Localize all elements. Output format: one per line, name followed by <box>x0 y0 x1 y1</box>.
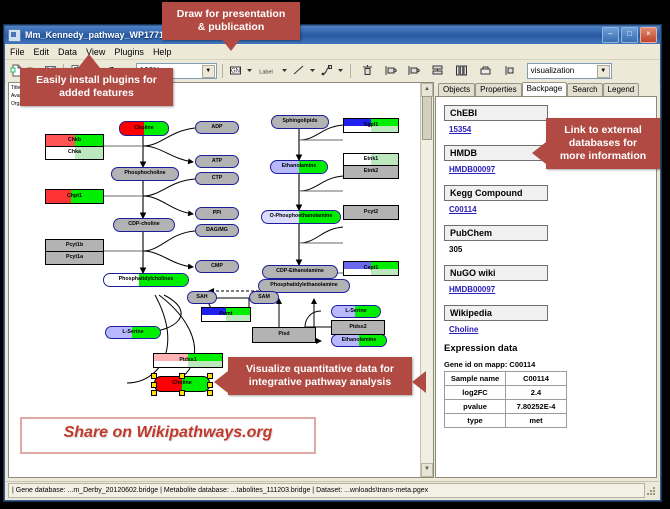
node-label: Pisd <box>278 332 289 337</box>
callout-link-arrow <box>532 142 546 164</box>
db-link-wikipedia[interactable]: Choline <box>449 325 656 334</box>
gene-node-pisd[interactable]: Pisd <box>252 327 316 343</box>
selection-handle-sw[interactable] <box>151 390 157 396</box>
db-header-wikipedia: Wikipedia <box>444 305 548 321</box>
metabolite-node-phosphocholine[interactable]: Phosphocholine <box>111 167 179 181</box>
gene-node-ptdss2[interactable]: Ptdss2 <box>331 320 385 335</box>
selection-handle-ne[interactable] <box>207 373 213 379</box>
callout-visualize: Visualize quantitative data for integrat… <box>228 357 412 395</box>
app-icon <box>8 29 21 42</box>
table-cell-value: 7.80252E-4 <box>506 400 567 414</box>
datanode-icon[interactable]: GN <box>228 63 243 78</box>
minimize-button[interactable]: – <box>602 27 619 43</box>
distribute-icon[interactable] <box>454 63 469 78</box>
selection-handle-w[interactable] <box>151 382 157 388</box>
metabolite-node-o-phosphoethanolamine[interactable]: O-Phosphoethanolamine <box>261 210 341 224</box>
selection-handle-nw[interactable] <box>151 373 157 379</box>
table-row: type met <box>445 414 567 428</box>
close-button[interactable]: × <box>640 27 657 43</box>
scroll-thumb[interactable] <box>422 96 432 140</box>
tab-backpage[interactable]: Backpage <box>522 82 568 96</box>
callout-draw-arrow <box>220 37 242 51</box>
gene-id-on-mapp: Gene id on mapp: C00114 <box>444 360 656 369</box>
visualization-value: visualization <box>531 66 575 75</box>
table-cell-key: log2FC <box>445 386 506 400</box>
metabolite-node-ctp[interactable]: CTP <box>195 172 239 185</box>
gene-node-etnk2[interactable]: Etnk2 <box>343 165 399 179</box>
callout-plugins-line1: Easily install plugins for <box>29 74 164 87</box>
callout-link: Link to external databases for more info… <box>546 118 660 169</box>
metabolite-node-sphingolipids[interactable]: Sphingolipids <box>271 115 329 129</box>
table-cell-key: Sample name <box>445 372 506 386</box>
node-label: ATP <box>212 159 222 164</box>
metabolite-node-cdp-ethanolamine[interactable]: CDP-Ethanolamine <box>262 265 338 279</box>
callout-visualize-line1: Visualize quantitative data for <box>237 363 403 376</box>
gene-node-chka[interactable]: Chka <box>45 146 104 160</box>
callout-visualize-arrow-right <box>412 371 426 393</box>
callout-draw-line2: & publication <box>171 21 291 34</box>
node-label: Chpt1 <box>67 194 82 199</box>
gene-node-chpt1[interactable]: Chpt1 <box>45 189 104 204</box>
metabolite-node-ethanolamine-bottom[interactable]: Ethanolamine <box>331 334 387 347</box>
db-link-kegg-compound[interactable]: C00114 <box>449 205 656 214</box>
table-row: pvalue 7.80252E-4 <box>445 400 567 414</box>
callout-link-line1: Link to external <box>555 124 651 137</box>
gene-node-cept1[interactable]: Cept1 <box>343 261 399 276</box>
node-label: Pcyt2 <box>364 210 378 215</box>
node-label: Phosphocholine <box>124 171 165 176</box>
tab-search[interactable]: Search <box>567 83 602 96</box>
label-dropdown-icon[interactable] <box>280 63 289 78</box>
node-label: SAM <box>258 295 270 300</box>
tab-objects[interactable]: Objects <box>438 83 475 96</box>
metabolite-node-phosphatidylcholines[interactable]: Phosphatidylcholines <box>103 273 189 287</box>
node-label: Etnk2 <box>364 169 378 174</box>
table-row: log2FC 2.4 <box>445 386 567 400</box>
callout-link-line2: databases for <box>555 137 651 150</box>
maximize-button[interactable]: □ <box>621 27 638 43</box>
table-row: Sample name C00114 <box>445 372 567 386</box>
window-controls: – □ × <box>602 27 657 43</box>
metabolite-node-choline[interactable]: Choline <box>119 121 169 136</box>
metabolite-node-l-serine-right[interactable]: L-Serine <box>331 305 381 318</box>
gene-node-pemt[interactable]: Pemt <box>201 307 251 322</box>
menu-item-data[interactable]: Data <box>58 47 77 57</box>
node-label: CDP-Ethanolamine <box>276 269 324 274</box>
callout-visualize-line2: integrative pathway analysis <box>237 376 403 389</box>
metabolite-node-adp[interactable]: ADP <box>195 121 239 134</box>
tab-properties[interactable]: Properties <box>475 83 521 96</box>
node-label: Pemt <box>220 312 233 317</box>
title-bar: Mm_Kennedy_pathway_WP1771_45176.gpml – □… <box>5 26 660 44</box>
selection-handle-s[interactable] <box>179 390 185 396</box>
toolbar-separator-2 <box>222 64 223 78</box>
callout-share: Share on Wikipathways.org <box>20 417 316 454</box>
node-label: ADP <box>211 125 222 130</box>
resize-grip-icon[interactable] <box>645 485 657 497</box>
metabolite-node-cdp-choline[interactable]: CDP-choline <box>113 218 175 232</box>
table-cell-key: type <box>445 414 506 428</box>
node-label: Choline <box>134 126 153 131</box>
align-left-icon[interactable] <box>383 63 398 78</box>
menu-item-file[interactable]: File <box>10 47 25 57</box>
datanode-dropdown-icon[interactable] <box>245 63 254 78</box>
align-top-icon[interactable] <box>360 63 375 78</box>
db-header-nugo-wiki: NuGO wiki <box>444 265 548 281</box>
node-label: CDP-choline <box>128 222 160 227</box>
selection-handle-n[interactable] <box>179 373 185 379</box>
metabolite-node-ppi[interactable]: PPi <box>195 207 239 220</box>
node-label: O-Phosphoethanolamine <box>270 214 333 219</box>
node-label: DAG/MG <box>206 228 228 233</box>
node-label: L-Serine <box>345 309 366 314</box>
db-header-pubchem: PubChem <box>444 225 548 241</box>
scroll-up-button[interactable]: ▲ <box>421 83 433 97</box>
node-label: L-Serine <box>122 330 143 335</box>
table-cell-value: met <box>506 414 567 428</box>
label-icon[interactable]: Label <box>256 63 278 78</box>
interaction-icon[interactable] <box>319 63 334 78</box>
toolbar-separator-3 <box>350 64 351 78</box>
node-label: SAH <box>196 295 207 300</box>
group-icon[interactable] <box>478 63 493 78</box>
tab-legend[interactable]: Legend <box>603 83 640 96</box>
align-right-icon[interactable] <box>406 63 421 78</box>
node-label: Ethanolamine <box>342 338 377 343</box>
db-header-chebi: ChEBI <box>444 105 548 121</box>
scroll-down-button[interactable]: ▼ <box>421 463 433 477</box>
node-label: Choline <box>172 381 191 386</box>
menu-item-help[interactable]: Help <box>153 47 172 57</box>
visualization-combobox[interactable]: visualization ▼ <box>527 63 612 79</box>
node-label: Ptdss2 <box>349 325 366 330</box>
node-label: Phosphatidylcholines <box>119 277 174 282</box>
callout-draw-line1: Draw for presentation <box>171 8 291 21</box>
side-panel-tabs: Objects Properties Backpage Search Legen… <box>435 82 657 96</box>
metabolite-node-cmp[interactable]: CMP <box>195 260 239 273</box>
table-cell-value: 2.4 <box>506 386 567 400</box>
chevron-down-icon[interactable]: ▼ <box>202 65 215 78</box>
status-text: | Gene database: ...m_Derby_20120602.bri… <box>8 483 645 498</box>
node-label: Sphingolipids <box>282 119 317 124</box>
node-label: Ptdss1 <box>179 358 196 363</box>
menu-item-plugins[interactable]: Plugins <box>114 47 144 57</box>
node-label: Ethanolamine <box>282 164 317 169</box>
node-label: Phosphatidylethanolamine <box>270 283 337 288</box>
expression-data-heading: Expression data <box>444 343 656 354</box>
expression-data-table: Sample name C00114 log2FC 2.4 pvalue 7.8… <box>444 371 567 428</box>
table-cell-value: C00114 <box>506 372 567 386</box>
callout-plugins: Easily install plugins for added feature… <box>20 68 173 106</box>
callout-plugins-arrow <box>78 54 100 68</box>
menu-item-edit[interactable]: Edit <box>34 47 50 57</box>
status-bar: | Gene database: ...m_Derby_20120602.bri… <box>6 481 659 499</box>
metabolite-node-sah[interactable]: SAH <box>187 291 217 304</box>
node-label: CMP <box>211 264 223 269</box>
node-label: CTP <box>212 176 223 181</box>
svg-text:Label: Label <box>259 69 272 75</box>
line-icon[interactable] <box>291 63 306 78</box>
metabolite-node-ethanolamine-top[interactable]: Ethanolamine <box>270 160 328 174</box>
callout-plugins-line2: added features <box>29 87 164 100</box>
metabolite-node-dag-mg[interactable]: DAG/MG <box>195 224 239 237</box>
line-dropdown-icon[interactable] <box>308 63 317 78</box>
node-label: Sgpl1 <box>364 123 378 128</box>
metabolite-node-atp[interactable]: ATP <box>195 155 239 168</box>
table-cell-key: pvalue <box>445 400 506 414</box>
node-label: Etnk1 <box>364 157 378 162</box>
screenshot-root: Mm_Kennedy_pathway_WP1771_45176.gpml – □… <box>0 0 670 509</box>
metabolite-node-sam[interactable]: SAM <box>249 291 279 304</box>
canvas-vertical-scrollbar[interactable]: ▲ ▼ <box>420 83 433 477</box>
gene-node-pcyt1a[interactable]: Pcyt1a <box>45 251 104 265</box>
node-label: Cept1 <box>364 266 379 271</box>
db-link-nugo-wiki[interactable]: HMDB00097 <box>449 285 656 294</box>
node-label: Pcyt1a <box>66 255 83 260</box>
selection-handle-se[interactable] <box>207 390 213 396</box>
node-label: Pcyt1b <box>66 243 83 248</box>
db-value-pubchem: 305 <box>449 245 656 254</box>
node-label: Chka <box>68 150 81 155</box>
gene-node-ptdss1[interactable]: Ptdss1 <box>153 353 223 368</box>
menu-bar: File Edit Data View Plugins Help <box>5 44 660 60</box>
node-label: PPi <box>213 211 222 216</box>
gene-node-pcyt2[interactable]: Pcyt2 <box>343 205 399 220</box>
callout-link-line3: more information <box>555 150 651 163</box>
stack-icon[interactable] <box>430 63 445 78</box>
gene-node-sgpl1[interactable]: Sgpl1 <box>343 118 399 133</box>
selection-handle-e[interactable] <box>207 382 213 388</box>
metabolite-node-l-serine-left[interactable]: L-Serine <box>105 326 161 339</box>
chevron-down-icon-2[interactable]: ▼ <box>597 65 610 78</box>
order-icon[interactable] <box>502 63 517 78</box>
svg-text:GN: GN <box>231 69 240 75</box>
db-header-kegg-compound: Kegg Compound <box>444 185 548 201</box>
callout-draw: Draw for presentation & publication <box>162 2 300 40</box>
callout-visualize-arrow <box>214 371 228 393</box>
node-label: Chkb <box>68 138 81 143</box>
interaction-dropdown-icon[interactable] <box>336 63 345 78</box>
